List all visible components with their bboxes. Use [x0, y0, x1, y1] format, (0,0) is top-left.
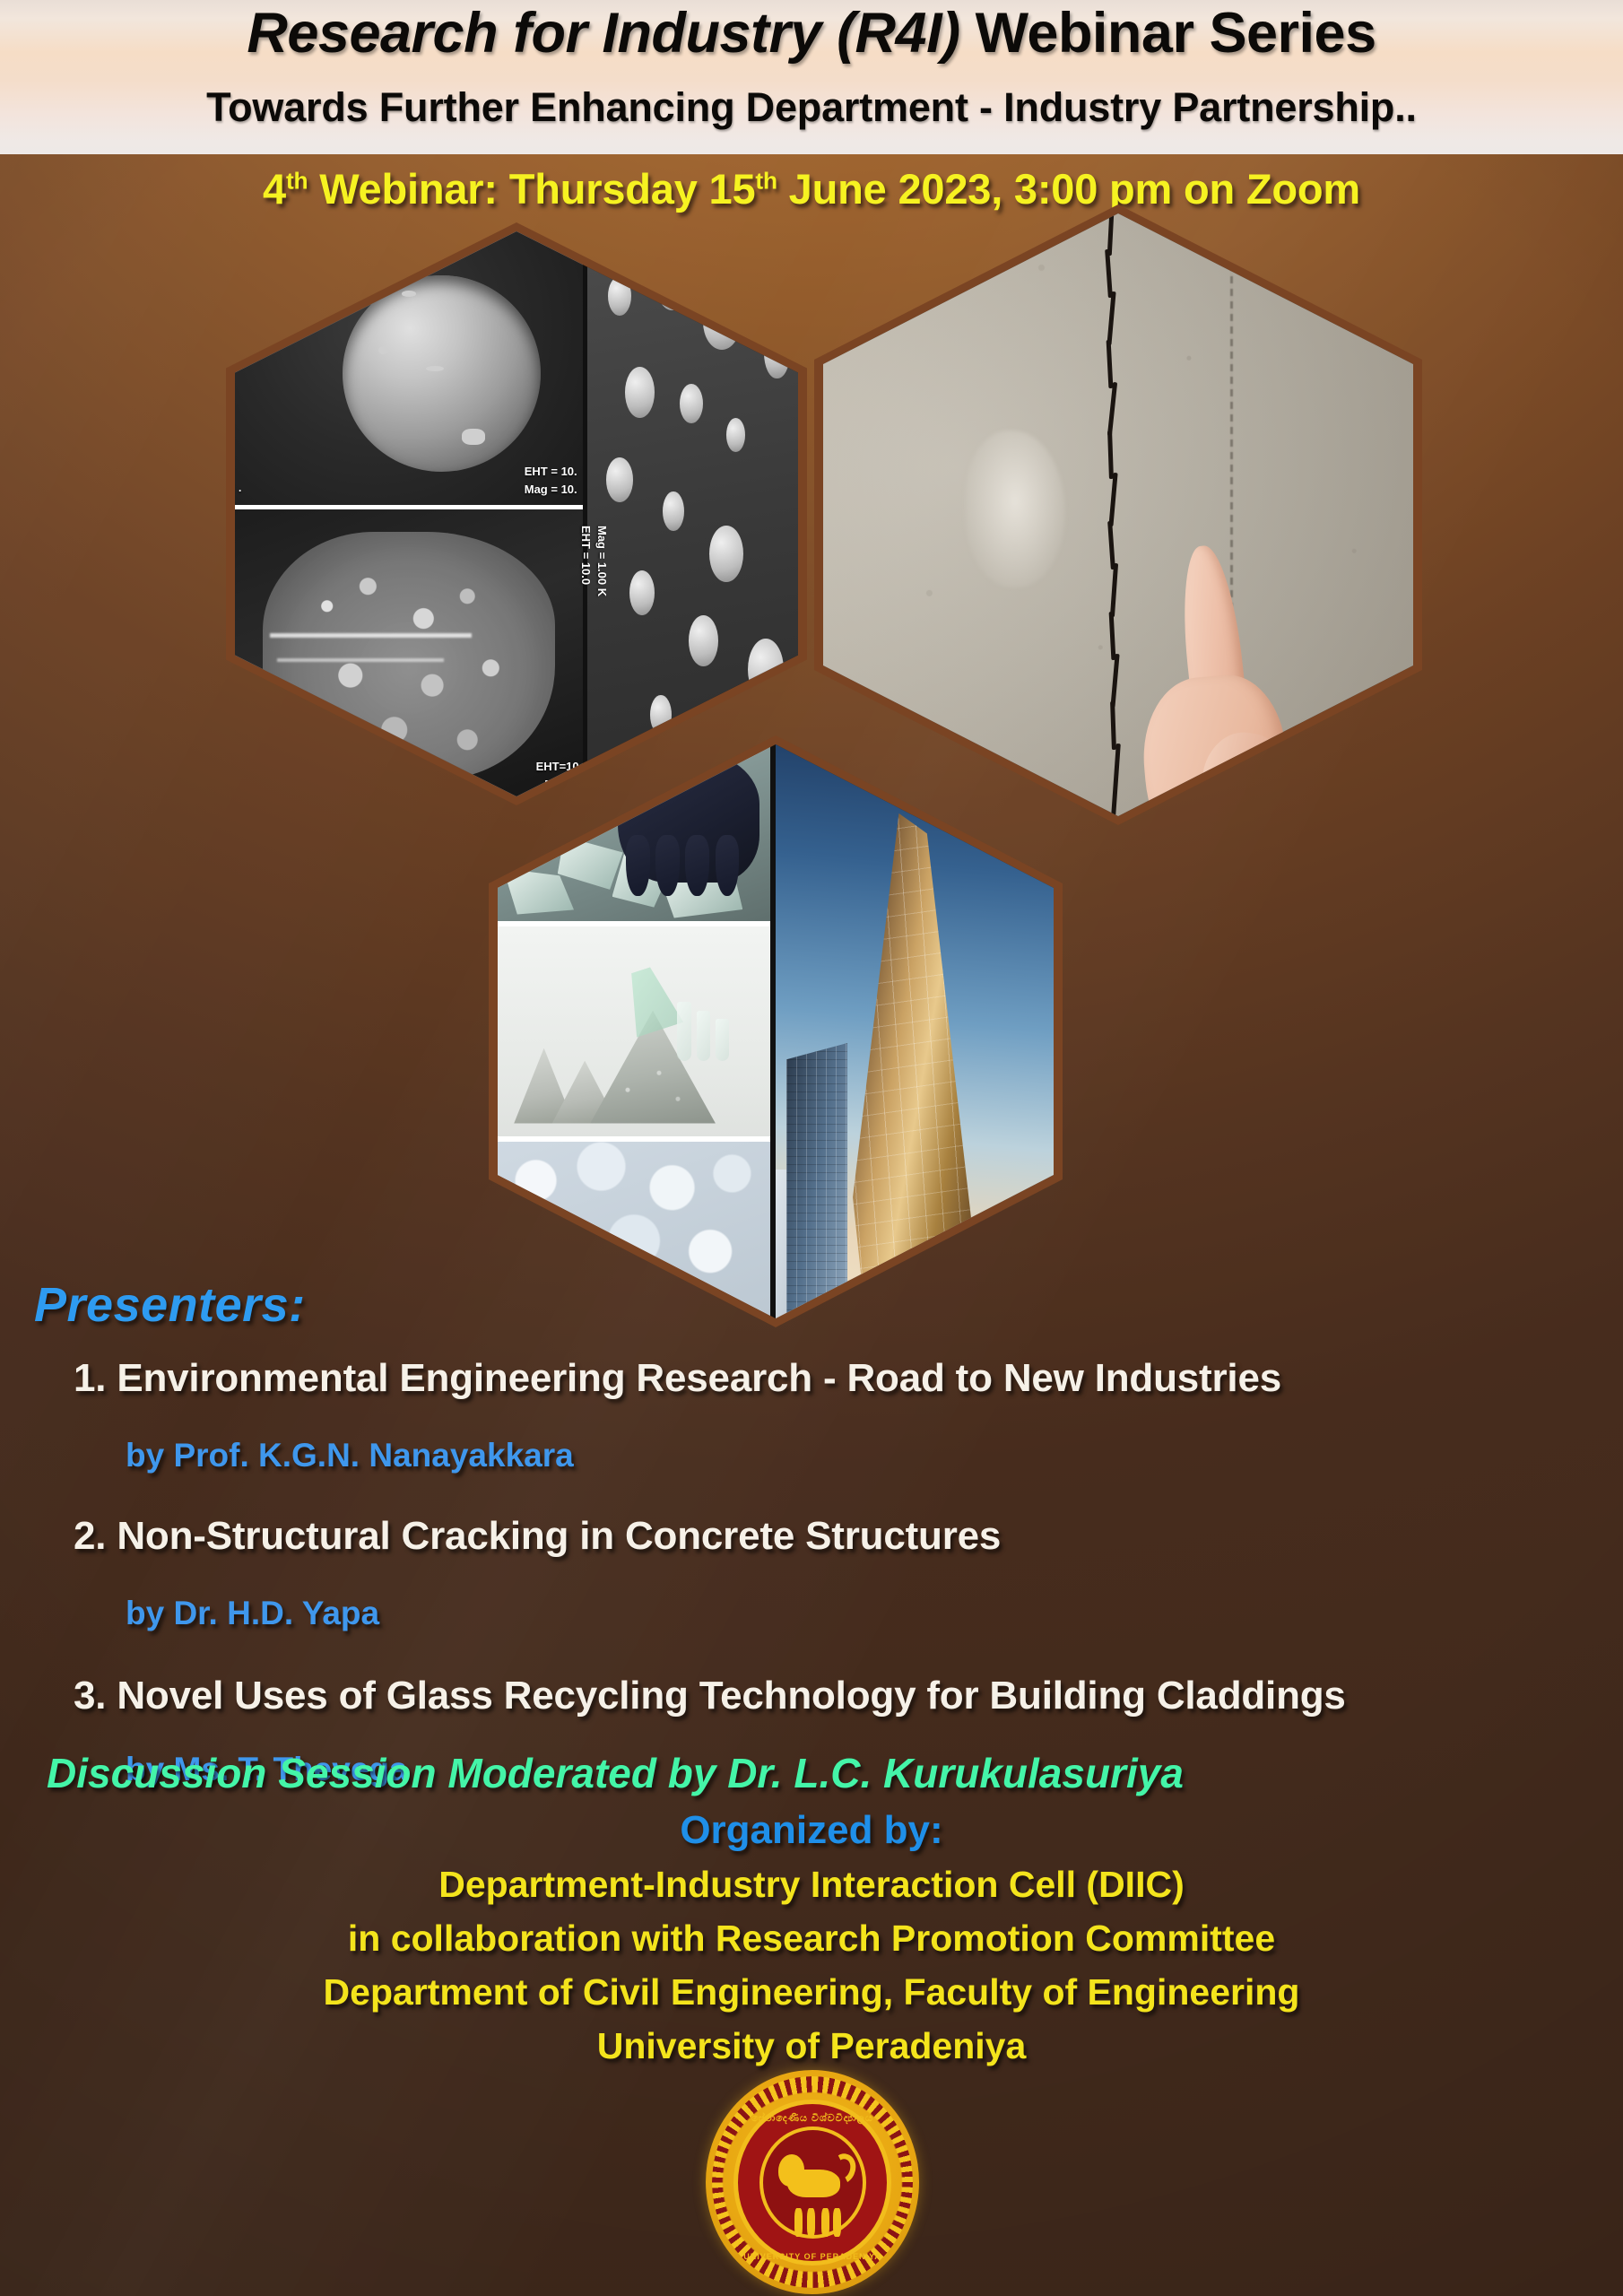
- hexagon-image-cluster: EHT = 10. Mag = 10. . EHT=10 M=: [0, 0, 1623, 1345]
- pointing-finger: [1141, 545, 1324, 816]
- organizer-line-4: University of Peradeniya: [0, 2025, 1623, 2067]
- glass-powder-panel: [498, 926, 770, 1135]
- presenter-item-3-title: 3. Novel Uses of Glass Recycling Technol…: [74, 1674, 1346, 1718]
- crushed-glass-panel: [498, 1142, 770, 1318]
- seal-lion-icon: [778, 2144, 851, 2221]
- seal-sinhala-text: පේරාදෙණිය විශ්වවිද්‍යාලය: [706, 2113, 919, 2125]
- sem-label-eht-1: EHT = 10.: [525, 465, 577, 478]
- presenters-heading: Presenters:: [34, 1277, 306, 1333]
- hex-image-concrete-crack: [823, 213, 1413, 816]
- sem-scalebar-left: .: [239, 482, 241, 494]
- sem-label-mag-1: Mag = 10.: [525, 483, 577, 496]
- sem-sphere-panel: EHT = 10. Mag = 10. .: [235, 231, 583, 505]
- organizer-line-1: Department-Industry Interaction Cell (DI…: [0, 1864, 1623, 1906]
- hex-image-glass-recycling: [498, 744, 1054, 1318]
- concrete-crack: [1107, 213, 1112, 816]
- sem-label-mag-2: Mag = 1.00 K: [595, 526, 609, 596]
- glass-clad-tower-panel: [776, 744, 1054, 1318]
- university-of-peradeniya-seal-icon: පේරාදෙණිය විශ්වවිද්‍යාලය UNIVERSITY OF P…: [706, 2070, 919, 2294]
- sem-agglomerate-panel: EHT=10 M=: [235, 509, 583, 796]
- seal-english-text: UNIVERSITY OF PERADENIYA: [706, 2252, 919, 2261]
- presenter-item-2-by: by Dr. H.D. Yapa: [126, 1595, 379, 1632]
- organized-by-label: Organized by:: [0, 1808, 1623, 1853]
- organizer-line-3: Department of Civil Engineering, Faculty…: [0, 1971, 1623, 2013]
- organizer-line-2: in collaboration with Research Promotion…: [0, 1918, 1623, 1960]
- hex-image-sem-micrographs: EHT = 10. Mag = 10. . EHT=10 M=: [235, 231, 798, 796]
- sem-label-eht-2: EHT = 10.0: [579, 526, 593, 585]
- presenter-item-2-title: 2. Non-Structural Cracking in Concrete S…: [74, 1514, 1001, 1559]
- presenter-item-1-by: by Prof. K.G.N. Nanayakkara: [126, 1437, 574, 1474]
- moderator-line: Discussion Session Moderated by Dr. L.C.…: [47, 1749, 1184, 1797]
- webinar-poster: Research for Industry (R4I) Webinar Seri…: [0, 0, 1623, 2296]
- presenter-item-1-title: 1. Environmental Engineering Research - …: [74, 1356, 1281, 1401]
